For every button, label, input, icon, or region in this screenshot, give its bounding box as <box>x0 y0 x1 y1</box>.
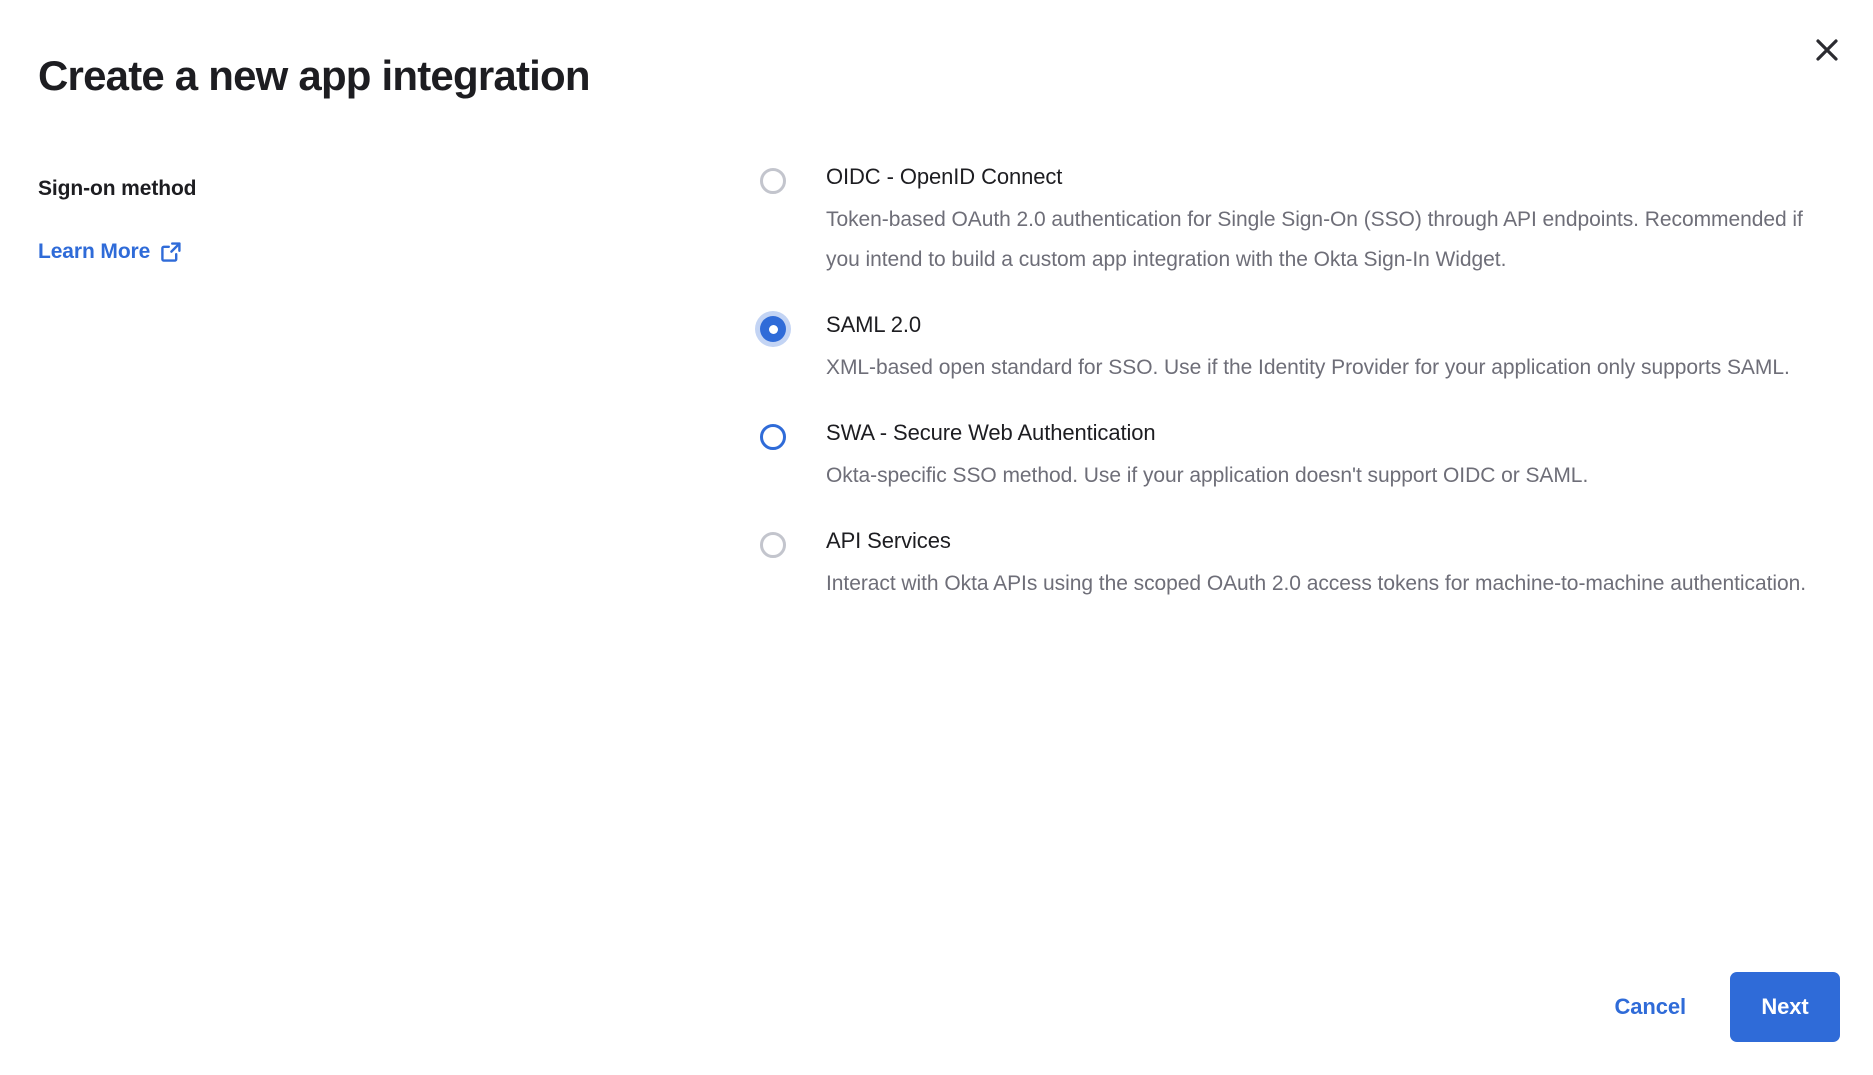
dialog-footer: Cancel Next <box>1610 972 1840 1042</box>
radio-swa[interactable] <box>760 424 786 450</box>
radio-api-services[interactable] <box>760 532 786 558</box>
sign-on-method-radio-group: OIDC - OpenID Connect Token-based OAuth … <box>760 162 1835 604</box>
option-oidc-description: Token-based OAuth 2.0 authentication for… <box>826 200 1835 281</box>
option-oidc[interactable]: OIDC - OpenID Connect Token-based OAuth … <box>760 162 1835 280</box>
option-saml[interactable]: SAML 2.0 XML-based open standard for SSO… <box>760 310 1835 388</box>
cancel-button[interactable]: Cancel <box>1610 984 1690 1030</box>
external-link-icon <box>160 241 182 263</box>
create-app-integration-dialog: Create a new app integration Sign-on met… <box>0 0 1873 1075</box>
option-swa[interactable]: SWA - Secure Web Authentication Okta-spe… <box>760 418 1835 496</box>
page-title: Create a new app integration <box>38 52 590 100</box>
close-icon-button[interactable] <box>1799 22 1855 78</box>
sign-on-method-panel: Sign-on method Learn More <box>38 175 558 264</box>
radio-saml[interactable] <box>760 316 786 342</box>
option-saml-description: XML-based open standard for SSO. Use if … <box>826 348 1835 388</box>
option-swa-description: Okta-specific SSO method. Use if your ap… <box>826 456 1835 496</box>
next-button[interactable]: Next <box>1730 972 1840 1042</box>
option-saml-title: SAML 2.0 <box>826 310 1835 340</box>
option-oidc-title: OIDC - OpenID Connect <box>826 162 1835 192</box>
option-api-services-title: API Services <box>826 526 1835 556</box>
learn-more-link[interactable]: Learn More <box>38 240 182 264</box>
option-swa-title: SWA - Secure Web Authentication <box>826 418 1835 448</box>
close-icon <box>1814 37 1840 63</box>
option-api-services[interactable]: API Services Interact with Okta APIs usi… <box>760 526 1835 604</box>
sign-on-method-label: Sign-on method <box>38 175 558 202</box>
learn-more-label: Learn More <box>38 240 150 264</box>
option-api-services-description: Interact with Okta APIs using the scoped… <box>826 564 1835 604</box>
radio-oidc[interactable] <box>760 168 786 194</box>
